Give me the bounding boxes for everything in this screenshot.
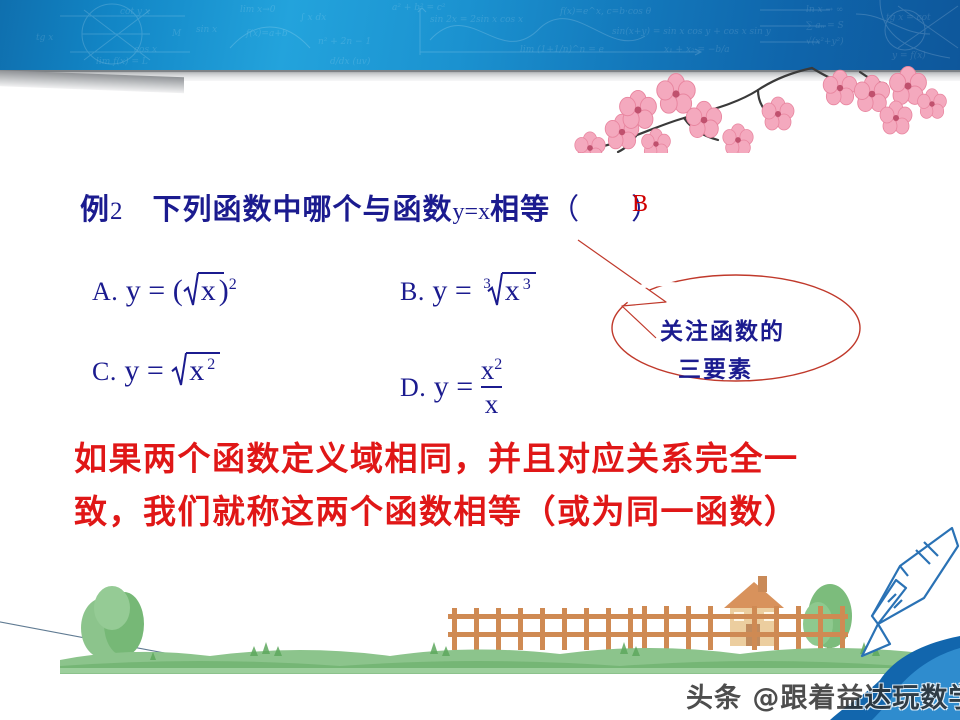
cube-root-icon: x3 [487, 272, 531, 306]
svg-text:f(x)=a+b: f(x)=a+b [245, 28, 288, 39]
question-function: y=x [453, 199, 491, 225]
svg-text:n² + 2n − 1: n² + 2n − 1 [318, 37, 371, 47]
svg-text:cos x: cos x [134, 45, 157, 55]
svg-text:tg x = cot: tg x = cot [886, 13, 931, 23]
slide-canvas: tg x cot y x M sin x cos x f(x)=a+b lim … [0, 0, 960, 720]
question-open-paren: （ [550, 194, 579, 226]
option-b-power: 3 [523, 276, 531, 293]
svg-text:ln x → ∞: ln x → ∞ [806, 5, 843, 15]
option-d-fraction: x2 x [481, 356, 503, 419]
svg-text:∑ aₙ = S: ∑ aₙ = S [806, 21, 844, 31]
option-d-numerator-power: 2 [494, 356, 502, 373]
svg-text:sin 2x = 2sin x cos x: sin 2x = 2sin x cos x [430, 15, 523, 25]
option-d: D. y = x2 x [400, 358, 502, 421]
svg-text:sin(x+y) = sin x cos y + cos x: sin(x+y) = sin x cos y + cos x sin y [612, 26, 772, 37]
fence-icon [448, 606, 848, 650]
watermark-text: 头条 @跟着益达玩数学 [686, 676, 960, 715]
option-a-radicand: x [199, 275, 219, 306]
option-a-label: A. [92, 277, 118, 306]
fraction-bar [481, 386, 503, 388]
option-d-equals: y = [434, 370, 473, 403]
svg-text:M: M [171, 29, 182, 39]
option-d-denominator: x [481, 390, 503, 418]
question-body: 下列函数中哪个与函数 [153, 192, 453, 226]
question-line: 例2 下列函数中哪个与函数y=x相等（） [80, 186, 660, 228]
svg-text:∫ x dx: ∫ x dx [300, 13, 326, 23]
svg-text:d/dx (uv): d/dx (uv) [330, 56, 371, 67]
answer-letter: B [632, 191, 648, 218]
radical-tick-icon [171, 352, 187, 386]
sqrt-icon: x2 [171, 352, 215, 386]
option-a-expression: (x)2 [173, 274, 237, 307]
radical-tick-icon [183, 272, 199, 306]
option-c-radicand: x [187, 355, 207, 386]
svg-text:lim x→0: lim x→0 [240, 5, 276, 15]
option-d-numerator-base: x [481, 355, 495, 385]
question-tail: 相等 [490, 192, 550, 226]
option-c: C. y = x2 [92, 352, 215, 386]
option-b-equals: y = [432, 274, 471, 307]
svg-text:cot y x: cot y x [120, 7, 150, 17]
blue-pen-drawing-icon [862, 528, 958, 656]
svg-text:lim f(x) = L: lim f(x) = L [96, 56, 148, 67]
svg-text:√(x²+y²): √(x²+y²) [806, 36, 844, 47]
option-b-label: B. [400, 277, 425, 306]
question-prefix: 例 [80, 192, 110, 226]
question-number: 2 [110, 198, 123, 225]
radical-tick-icon [487, 272, 503, 306]
callout-line-2: 三要素 [678, 350, 753, 384]
option-d-numerator: x2 [481, 356, 503, 384]
sqrt-icon: x [183, 272, 219, 306]
option-d-label: D. [400, 373, 426, 402]
option-c-equals: y = [124, 354, 163, 387]
option-c-power: 2 [207, 356, 215, 373]
svg-text:tg x: tg x [36, 33, 53, 43]
callout-text-block: 关注函数的 三要素 [560, 228, 880, 400]
option-a-power: 2 [229, 276, 237, 293]
option-a: A. y = (x)2 [92, 272, 237, 306]
svg-text:f(x)=e^x, c=b·cos θ: f(x)=e^x, c=b·cos θ [559, 6, 652, 17]
cherry-blossom-branch-icon [560, 48, 960, 153]
option-b: B. y = 3x3 [400, 272, 531, 306]
svg-text:sin x: sin x [196, 25, 217, 35]
option-c-label: C. [92, 357, 117, 386]
option-b-radicand: x [503, 275, 523, 306]
svg-text:a² + b² = c²: a² + b² = c² [392, 3, 446, 13]
conclusion-line-1: 如果两个函数定义域相同，并且对应关系完全一 [74, 432, 914, 485]
callout-line-1: 关注函数的 [660, 312, 785, 346]
option-a-equals: y = [126, 274, 165, 307]
callout-bubble: 关注函数的 三要素 [560, 228, 880, 400]
